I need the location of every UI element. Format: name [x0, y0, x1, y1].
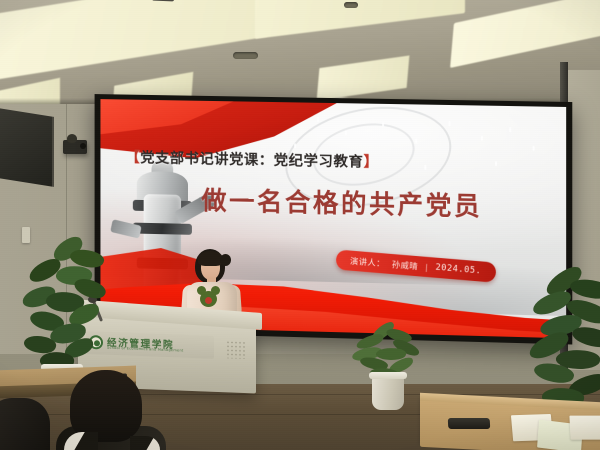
snow-speck: [448, 121, 450, 126]
podium-speaker-grill: [226, 340, 246, 359]
snow-speck: [495, 161, 497, 166]
ceiling-light-panel: [317, 55, 410, 100]
slide-title: 做一名合格的共产党员: [201, 181, 482, 224]
snow-speck: [509, 127, 511, 132]
ceiling-light-panel: [0, 0, 272, 84]
side-table-right: [420, 399, 600, 450]
ceiling-sensor: [344, 2, 358, 8]
ceiling: [0, 0, 600, 112]
wall-camera-icon: [63, 140, 87, 154]
lecture-hall-photo: 【党支部书记讲党课：党纪学习教育】 做一名合格的共产党员 演讲人： 孙威晴 | …: [0, 0, 600, 450]
plant-pot: [372, 376, 404, 410]
snow-speck: [415, 139, 417, 144]
snow-speck: [317, 116, 319, 121]
tshirt-graphic-icon: [200, 291, 217, 307]
document-page: [569, 416, 600, 440]
slide-header-text: 党支部书记讲党课：党纪学习教育: [140, 150, 363, 170]
bracket-open-icon: 【: [126, 150, 141, 166]
remote-control[interactable]: [448, 418, 491, 429]
wall-display: [0, 107, 54, 187]
ceiling-light-panel: [450, 0, 600, 68]
badge-separator: |: [425, 261, 429, 271]
presentation-date: 2024.05.: [435, 262, 481, 276]
bracket-close-icon: 】: [364, 155, 379, 171]
speaker-label: 演讲人：: [349, 254, 384, 269]
speaker-name: 孙威晴: [391, 258, 418, 272]
audience-member-foreground: [62, 370, 154, 450]
snow-speck: [481, 135, 483, 140]
snow-speck: [294, 144, 296, 149]
snow-speck: [424, 164, 426, 169]
ceiling-light-panel: [255, 0, 465, 39]
audience-member-left-edge: [0, 398, 50, 450]
ceiling-vent: [233, 52, 258, 59]
slide-surface: 【党支部书记讲党课：党纪学习教育】 做一名合格的共产党员 演讲人： 孙威晴 | …: [100, 99, 566, 338]
potted-plant-right: [352, 326, 430, 412]
snow-speck: [345, 131, 347, 136]
